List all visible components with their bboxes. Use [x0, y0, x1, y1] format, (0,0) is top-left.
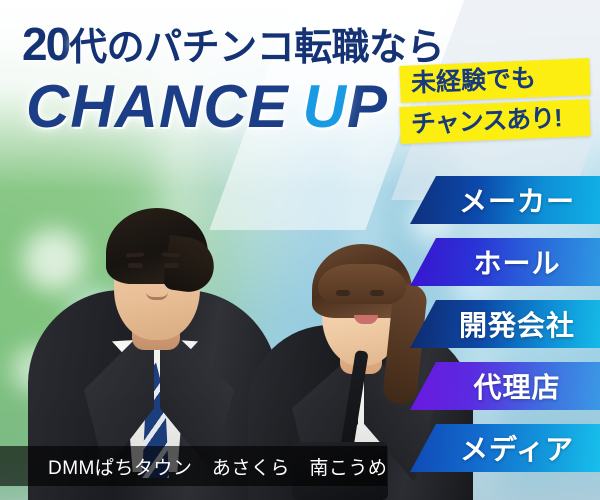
woman-bangs: [318, 264, 406, 304]
promo-badge-line-2: チャンスあり!: [399, 99, 590, 144]
headline-rest: 代のパチンコ転職なら: [69, 27, 444, 69]
caption-text: DMMぱちタウン あさくら 南こうめ: [0, 453, 387, 480]
category-button-agency[interactable]: 代理店: [410, 362, 600, 410]
headline-number: 20: [22, 18, 69, 70]
promo-badge-line-1: 未経験でも: [399, 58, 590, 103]
category-label-hall: ホール: [459, 242, 560, 282]
category-label-agency: 代理店: [459, 366, 560, 406]
man-eye-right: [164, 263, 179, 268]
woman-eye-right: [370, 290, 384, 296]
woman-eye-left: [336, 290, 350, 296]
caption-bar: DMMぱちタウン あさくら 南こうめ: [0, 446, 387, 486]
category-label-maker: メーカー: [445, 180, 575, 220]
category-button-media[interactable]: メディア: [410, 424, 600, 472]
category-button-maker[interactable]: メーカー: [410, 176, 600, 224]
category-label-media: メディア: [446, 428, 574, 468]
logo-chance-up: CHANCEUP: [26, 72, 388, 141]
category-button-hall[interactable]: ホール: [410, 238, 600, 286]
logo-letter-p: P: [347, 73, 388, 140]
headline: 20代のパチンコ転職なら: [22, 16, 444, 71]
logo-word-up: UP: [303, 72, 388, 141]
category-list: メーカー ホール 開発会社 代理店 メディア: [410, 176, 600, 486]
category-button-developer[interactable]: 開発会社: [410, 300, 600, 348]
man-hair: [106, 208, 208, 284]
logo-word-chance: CHANCE: [26, 73, 289, 140]
logo-letter-u: U: [303, 72, 347, 141]
promo-badge: 未経験でも チャンスあり!: [400, 62, 590, 140]
ad-banner[interactable]: 20代のパチンコ転職なら CHANCEUP 未経験でも チャンスあり! メーカー…: [0, 0, 600, 500]
category-label-developer: 開発会社: [445, 304, 575, 344]
man-eye-left: [128, 263, 143, 268]
